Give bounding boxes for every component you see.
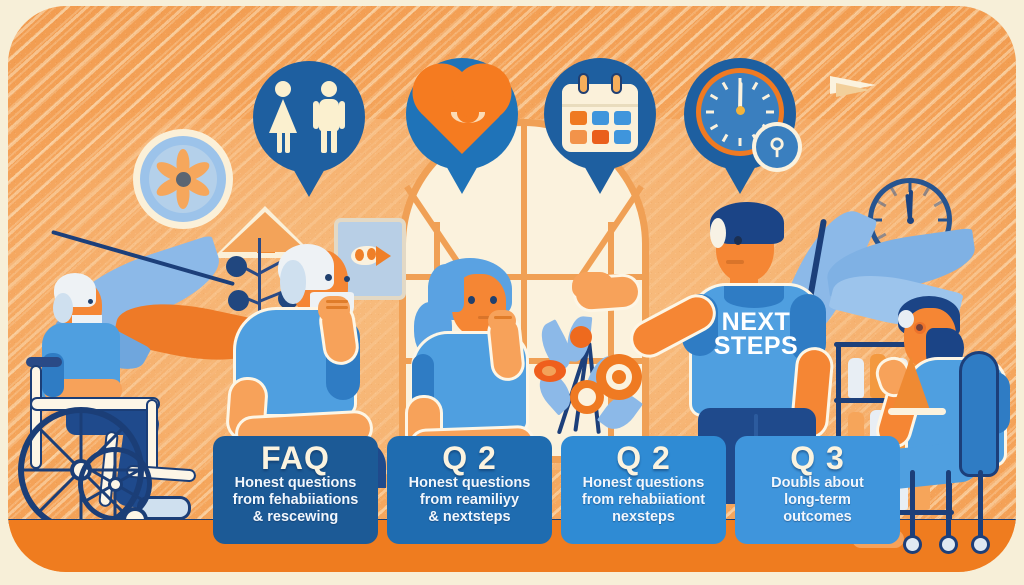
panel-line-3: nexsteps [612,509,675,526]
calendar-bubble[interactable] [544,58,656,170]
panel-line-3: outcomes [783,509,852,526]
panel-line-3: & rescewing [253,509,338,526]
artwork-area: ⚲ [8,6,1016,572]
panel-line-1: Honest questions [235,475,357,492]
clock-bubble[interactable]: ⚲ [684,58,796,170]
panel-line-2: from fehabiiations [233,492,359,509]
people-icon [275,81,291,97]
panel-line-1: Honest questions [409,475,531,492]
shirt-line-1: NEXT [700,310,812,334]
elderly-man-in-wheelchair [8,261,228,551]
shirt-text: NEXT STEPS [700,310,812,358]
panel-title: FAQ [261,442,330,474]
heart-bubble[interactable] [406,58,518,170]
illustration-canvas: ⚲ [0,0,1024,585]
table-lamp [888,350,958,420]
caption-panel-2[interactable]: Q 2 Honest questions from reamiliyy & ne… [387,436,552,544]
calendar-icon [562,84,638,152]
paper-plane [830,74,878,94]
panel-line-2: from reamiliyy [420,492,519,509]
accessibility-badge-icon: ⚲ [756,126,798,168]
panel-line-2: from rehabiiationt [582,492,705,509]
panel-line-1: Honest questions [583,475,705,492]
shirt-line-2: STEPS [700,334,812,358]
panel-title: Q 3 [790,442,845,474]
caption-panel-1[interactable]: FAQ Honest questions from fehabiiations … [213,436,378,544]
panel-title: Q 2 [616,442,671,474]
panel-line-2: long-term [784,492,851,509]
caption-panel-4[interactable]: Q 3 Doubls about long-term outcomes [735,436,900,544]
panel-line-1: Doubls about [771,475,864,492]
caption-panel-row: FAQ Honest questions from fehabiiations … [213,436,900,544]
people-bubble[interactable] [253,61,365,173]
caption-panel-3[interactable]: Q 2 Honest questions from rehabiiationt … [561,436,726,544]
badge-glyph: ⚲ [769,134,785,160]
panel-title: Q 2 [442,442,497,474]
panel-line-3: & nextsteps [428,509,510,526]
wheelchair-small-wheel [78,447,152,521]
